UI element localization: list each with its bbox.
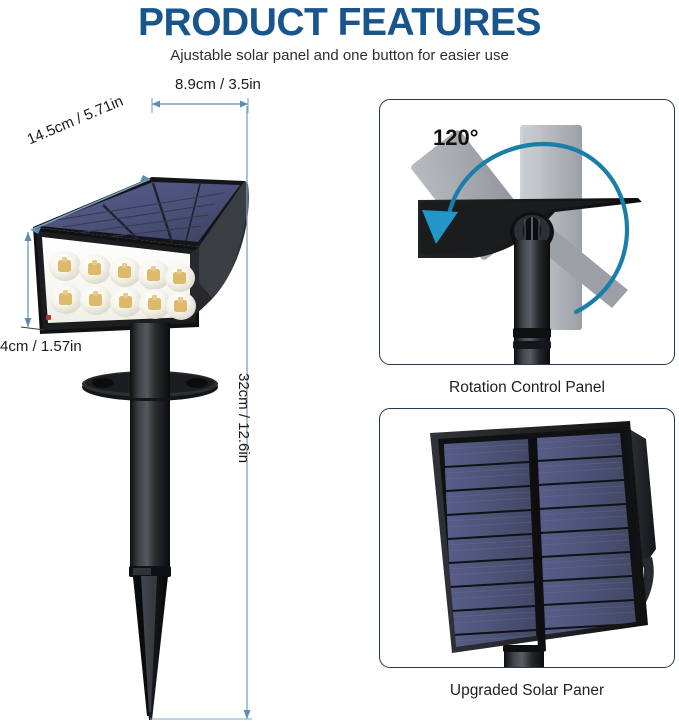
led-lens <box>109 257 141 287</box>
solar-panel-illustration <box>380 409 674 667</box>
solar-pole-stub <box>503 645 545 667</box>
dimension-label-head-height: 4cm / 1.57in <box>0 338 82 355</box>
ground-spike <box>133 576 168 720</box>
led-lens <box>50 284 82 314</box>
led-lens <box>79 254 111 284</box>
stake-flange <box>82 368 218 401</box>
led-lens <box>138 260 170 290</box>
product-figure-left: 8.9cm / 3.5in 14.5cm / 5.71in 4cm / 1.57… <box>0 80 360 722</box>
panel-rotation-control: 120° <box>379 99 675 365</box>
dimension-label-total-height: 32cm / 12.6in <box>235 373 252 463</box>
infographic-root: PRODUCT FEATURES Ajustable solar panel a… <box>0 0 679 722</box>
spotlight-illustration <box>0 80 360 722</box>
rotation-illustration <box>380 100 674 364</box>
panel-upgraded-solar <box>379 408 675 668</box>
led-lens <box>166 292 196 320</box>
dimension-label-width: 8.9cm / 3.5in <box>175 76 261 93</box>
mounting-pole <box>82 323 218 577</box>
led-lens <box>110 287 142 317</box>
page-title: PRODUCT FEATURES <box>0 2 679 44</box>
panel-caption-solar: Upgraded Solar Paner <box>379 681 675 701</box>
led-lens <box>49 251 81 281</box>
panel-caption-rotation: Rotation Control Panel <box>379 378 675 398</box>
rotation-pole <box>513 240 551 364</box>
led-lens <box>80 285 112 315</box>
angle-annotation: 120° <box>433 126 479 150</box>
led-lens <box>165 264 195 292</box>
sensor-indicator-dot <box>46 315 51 320</box>
page-subtitle: Ajustable solar panel and one button for… <box>0 46 679 66</box>
